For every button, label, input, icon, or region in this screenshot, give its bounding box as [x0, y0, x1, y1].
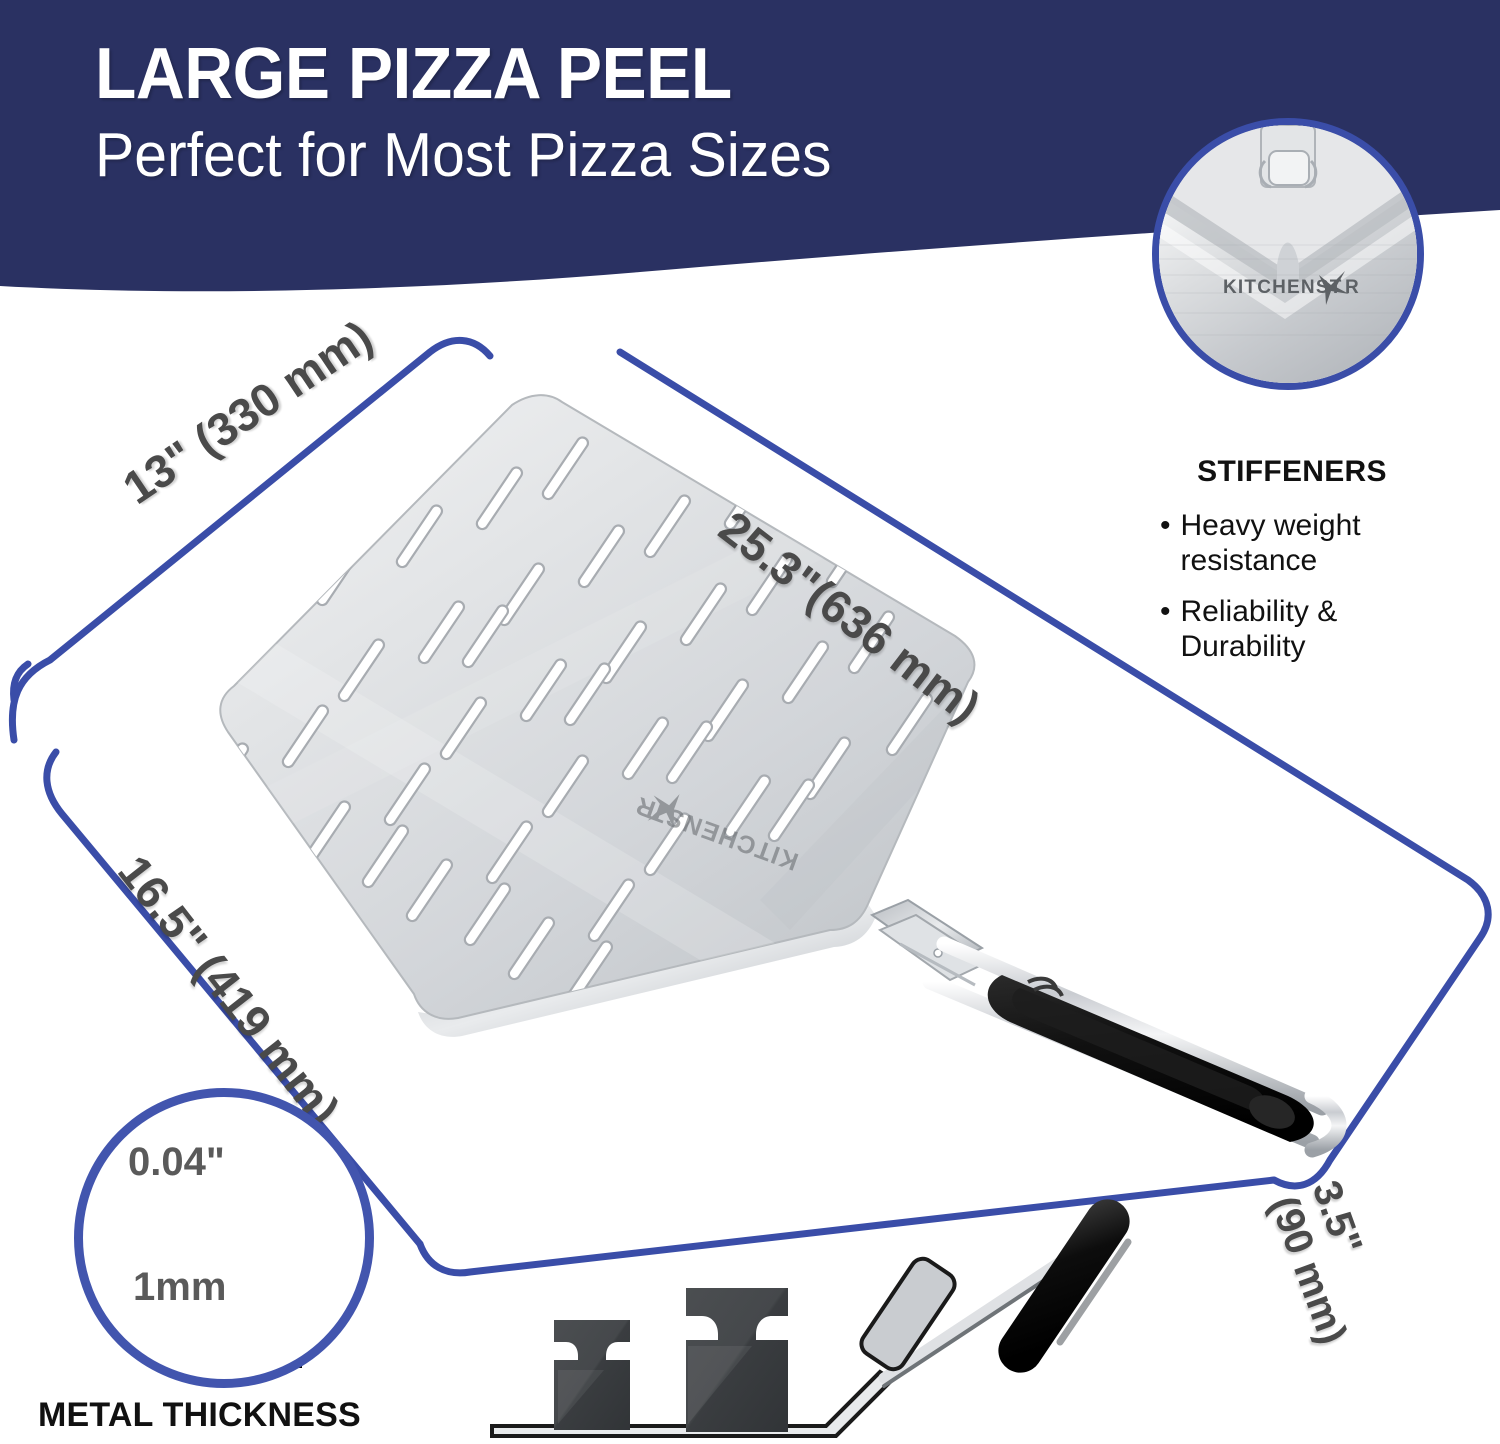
dimension-label-diagonal: 25.3"(636 mm) — [709, 500, 990, 734]
list-item-label: Heavy weight resistance — [1181, 508, 1450, 578]
svg-text:KITCHENST: KITCHENST — [645, 796, 802, 876]
weight-test-illustration — [492, 1191, 1138, 1436]
infographic-canvas: KITCHENST R — [0, 0, 1500, 1444]
peel-handle-assembly — [872, 900, 1339, 1150]
page-title: LARGE PIZZA PEEL — [95, 38, 1082, 111]
metal-thickness-caption: METAL THICKNESS — [38, 1396, 418, 1435]
dimension-label-width-top: 13" (330 mm) — [113, 309, 382, 515]
blade-slots — [201, 435, 934, 1005]
list-item-label: Reliability & Durability — [1181, 594, 1450, 664]
metal-thickness-mm: 1mm — [133, 1265, 226, 1310]
weight-large — [686, 1288, 788, 1432]
folding-bracket — [872, 900, 988, 985]
list-item: • Heavy weight resistance — [1160, 508, 1450, 578]
stiffeners-heading: STIFFENERS — [1152, 455, 1432, 489]
bullet-icon: • — [1160, 594, 1171, 664]
blade-brand-logo: KITCHENST R — [633, 782, 806, 876]
svg-text:R: R — [633, 791, 660, 823]
list-item: • Reliability & Durability — [1160, 594, 1450, 664]
stiffeners-benefit-list: • Heavy weight resistance • Reliability … — [1160, 508, 1450, 680]
metal-thickness-inches: 0.04" — [128, 1140, 225, 1185]
weight-small — [554, 1320, 630, 1430]
stiffeners-detail-photo: KITCHENST R — [1152, 118, 1424, 390]
dimension-label-handle-width: 3.5" (90 mm) — [1261, 1175, 1398, 1350]
metal-thickness-circle — [74, 1088, 374, 1388]
svg-text:R: R — [1345, 277, 1359, 298]
bullet-icon: • — [1160, 508, 1171, 578]
page-subtitle: Perfect for Most Pizza Sizes — [95, 121, 1093, 190]
